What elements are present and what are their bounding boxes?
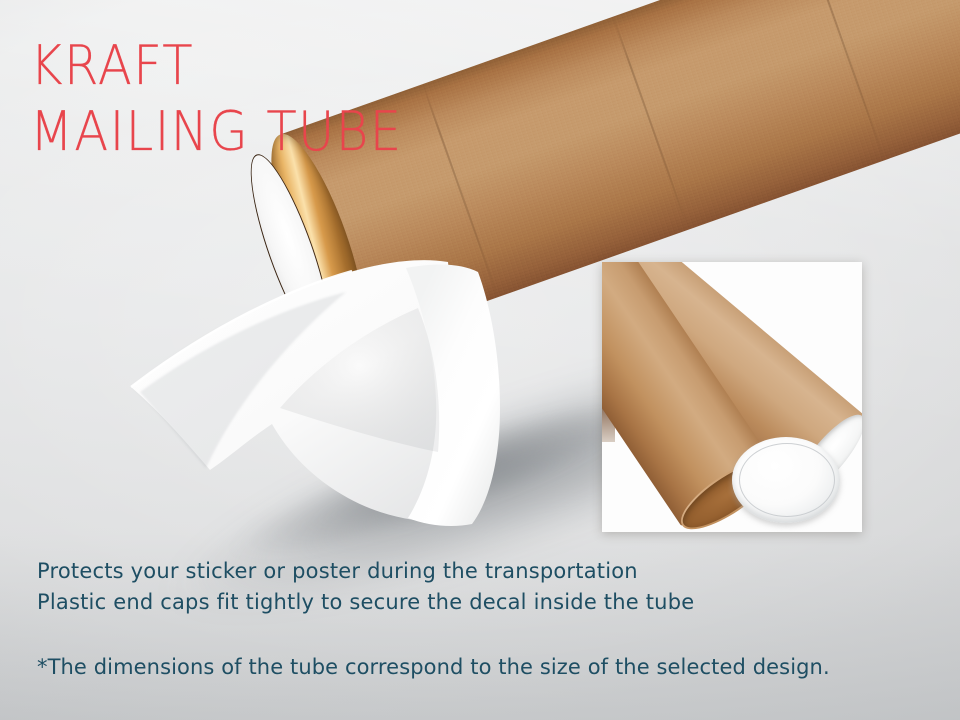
product-promo-image: KRAFT MAILING TUBE Protects your sticker… [0,0,960,720]
loose-plastic-end-cap [732,437,840,523]
inset-product-photo [602,262,862,532]
headline-line-1: KRAFT [30,33,402,99]
footnote-text: *The dimensions of the tube correspond t… [37,655,830,679]
end-cap-rim [739,443,835,517]
headline-line-2: MAILING TUBE [30,99,402,165]
benefit-list: Protects your sticker or poster during t… [37,556,694,618]
page-title: KRAFT MAILING TUBE [30,33,402,165]
benefit-line-2: Plastic end caps fit tightly to secure t… [37,587,694,618]
benefit-line-1: Protects your sticker or poster during t… [37,556,694,587]
inset-photo-canvas [602,262,862,532]
